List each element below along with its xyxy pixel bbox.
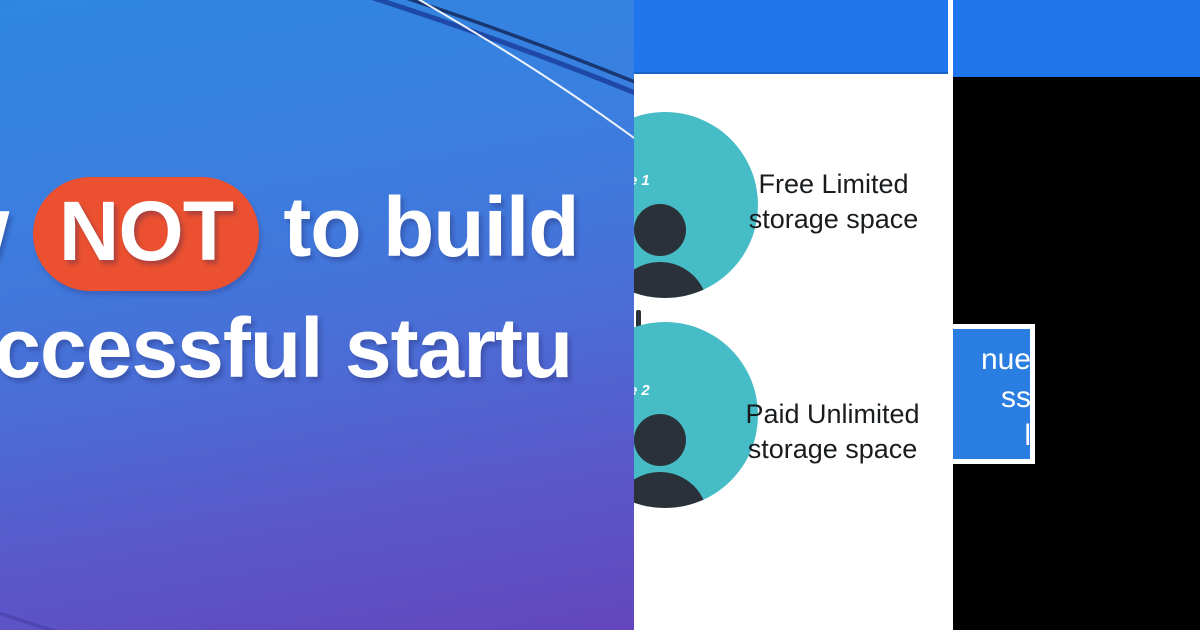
customer-row-text-line1: Free Limited — [726, 167, 941, 202]
slide-revenue-model[interactable]: nue ss l — [953, 0, 1200, 630]
slide-strip: w NOT to build uccessful startu el er ty… — [0, 0, 1200, 630]
customer-row-text: Free Limited storage space — [726, 167, 941, 237]
customer-row-text-line2: storage space — [726, 202, 941, 237]
title-text-block: w NOT to build uccessful startu — [0, 168, 634, 407]
person-body — [634, 472, 708, 508]
middle-slide-header-bar: el — [634, 0, 948, 74]
revenue-model-cta-box[interactable]: nue ss l — [953, 324, 1035, 464]
cta-line-2: ss — [953, 379, 1031, 417]
customer-row-text-line2: storage space — [720, 432, 945, 467]
cta-line-3: l — [953, 417, 1031, 455]
cta-line-1: nue — [953, 341, 1031, 379]
slide-title[interactable]: w NOT to build uccessful startu — [0, 0, 634, 630]
title-not-pill: NOT — [33, 177, 259, 291]
avatar-label: er type 1 — [634, 172, 650, 189]
slide-customer-types[interactable]: el er type 1 Free Limited storage space … — [634, 0, 953, 630]
right-slide-header-bar — [953, 0, 1200, 77]
title-line-1-suffix: to build — [261, 180, 579, 274]
revenue-model-cta-text: nue ss l — [953, 341, 1031, 455]
person-head — [634, 204, 686, 256]
title-line-1: w NOT to build — [0, 168, 634, 287]
customer-row[interactable]: er type 2 Paid Unlimited storage space — [634, 322, 953, 522]
person-icon — [634, 414, 718, 508]
person-body — [634, 262, 708, 298]
person-icon — [634, 204, 718, 298]
title-line-2: uccessful startu — [0, 289, 634, 407]
customer-row[interactable]: er type 1 Free Limited storage space — [634, 112, 953, 312]
customer-row-text-line1: Paid Unlimited — [720, 397, 945, 432]
title-line-1-prefix: w — [0, 180, 31, 274]
person-head — [634, 414, 686, 466]
avatar-label: er type 2 — [634, 382, 650, 399]
customer-row-text: Paid Unlimited storage space — [720, 397, 945, 467]
